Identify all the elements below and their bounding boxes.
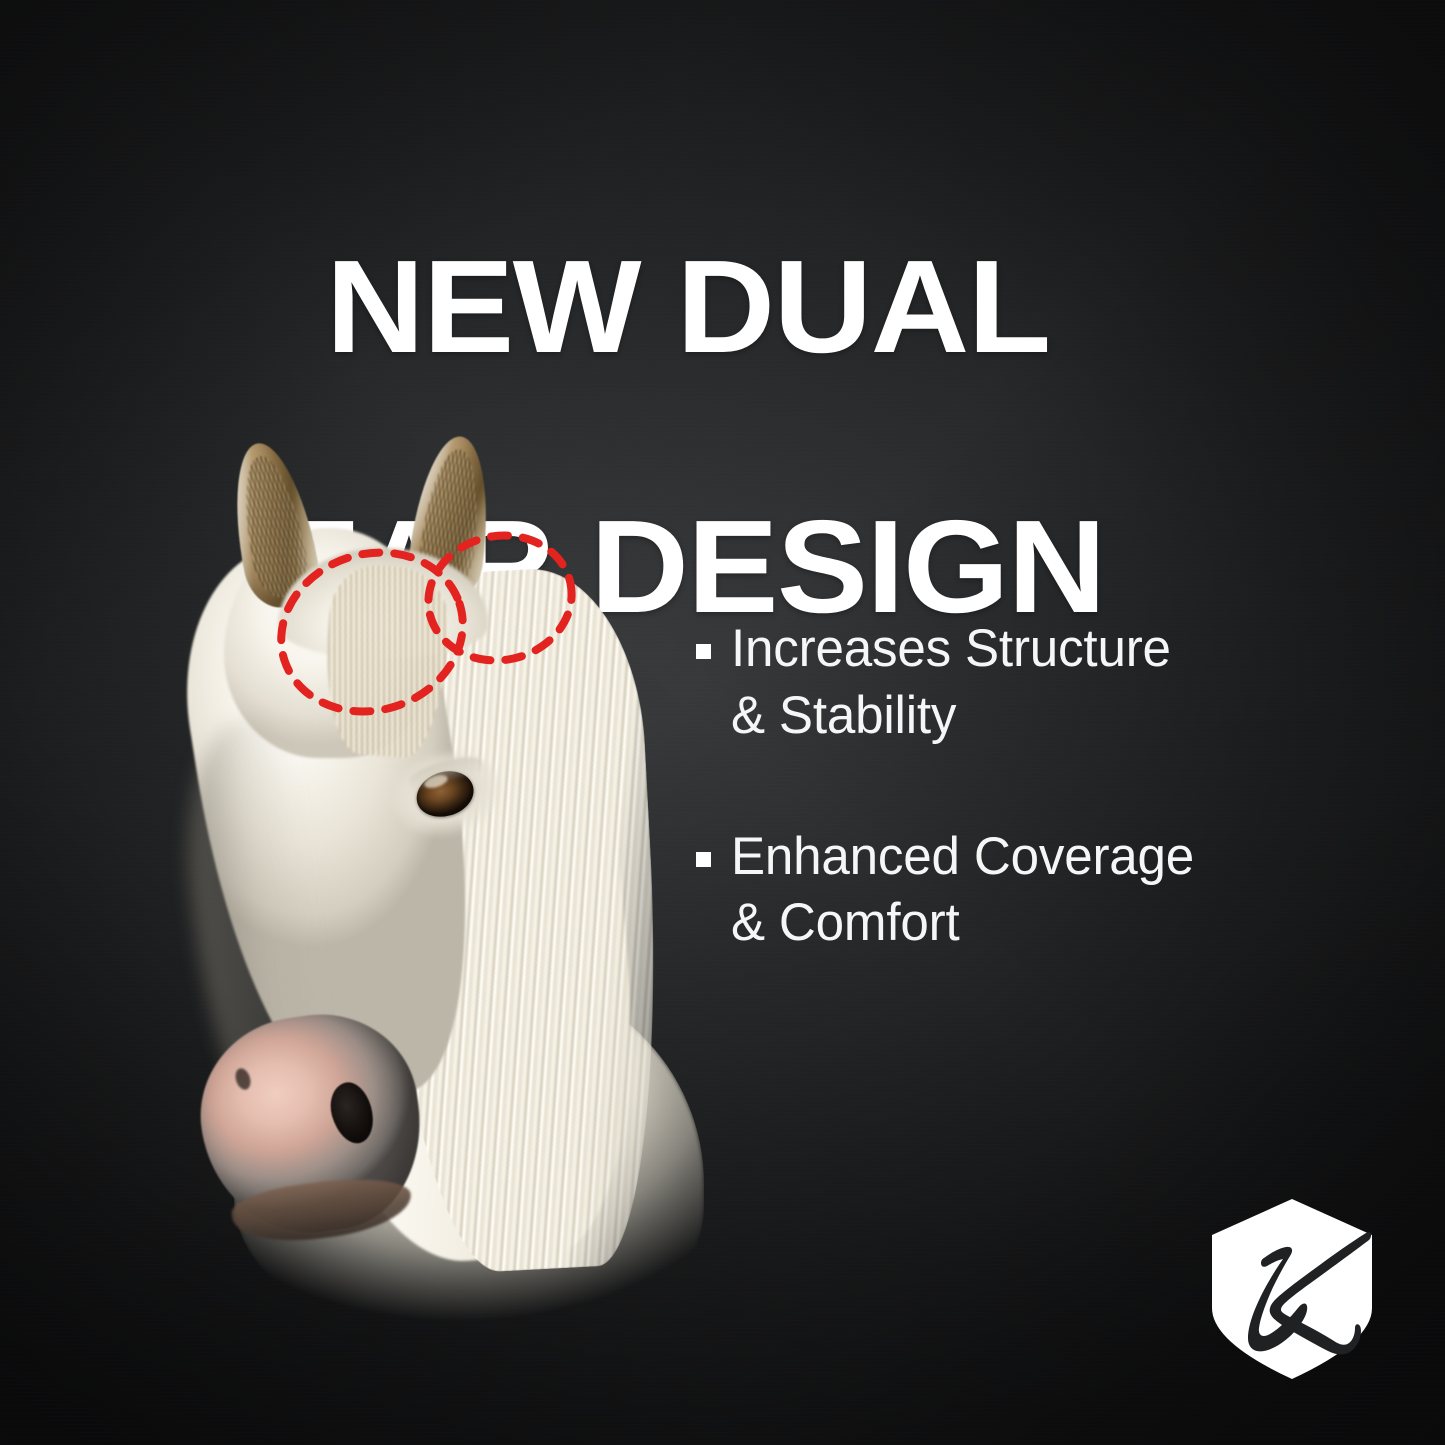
- headline-line-1: NEW DUAL: [268, 242, 1241, 372]
- feature-item-structure: Increases Structure & Stability: [696, 616, 1386, 750]
- feature-item-coverage-label: Enhanced Coverage & Comfort: [731, 824, 1194, 958]
- feature-item-structure-label: Increases Structure & Stability: [731, 616, 1171, 750]
- square-bullet-icon: [696, 644, 711, 659]
- feature-list: Increases Structure & Stability Enhanced…: [696, 616, 1386, 957]
- horse-image-stack: [150, 420, 790, 1430]
- brand-shield-logo: [1206, 1196, 1378, 1382]
- square-bullet-icon: [696, 852, 711, 867]
- promo-canvas: NEW DUAL EAR DESIGN: [0, 0, 1445, 1445]
- horse-photo: [150, 420, 790, 1430]
- feature-item-coverage: Enhanced Coverage & Comfort: [696, 824, 1386, 958]
